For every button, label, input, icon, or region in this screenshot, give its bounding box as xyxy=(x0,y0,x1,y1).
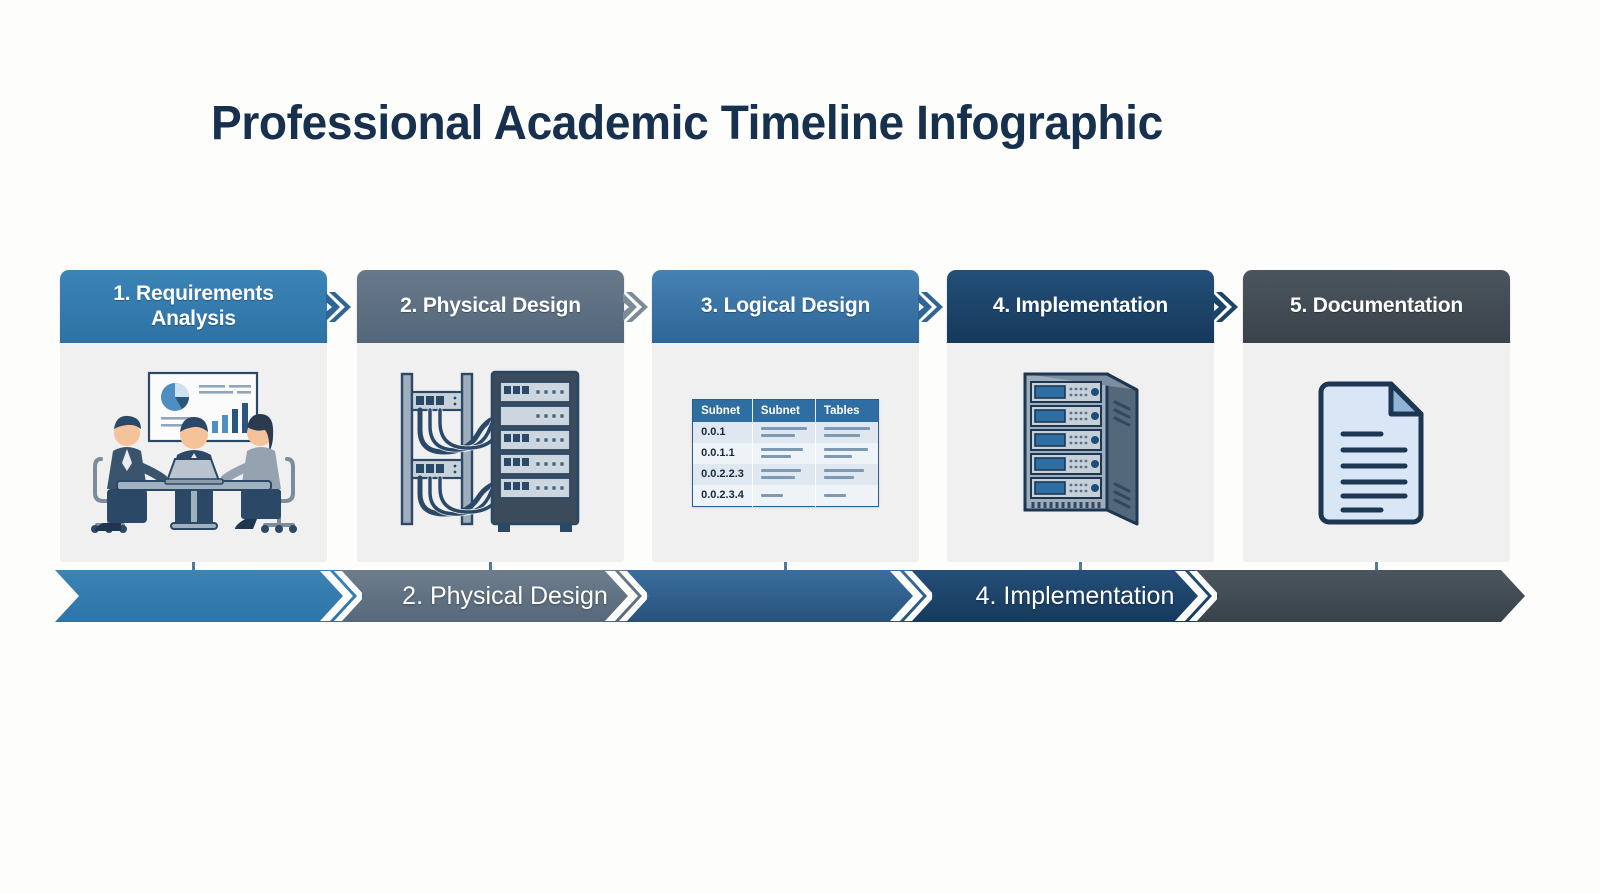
stage-card-4-label: 4. Implementation xyxy=(993,294,1168,319)
table-row: 0.0.2.2.3 xyxy=(693,464,879,485)
band-segment-4[interactable]: 4. Implementation xyxy=(910,570,1240,622)
stage-card-3-body: Subnet Subnet Tables 0.0.1 xyxy=(652,343,919,562)
placeholder-bars xyxy=(752,464,815,485)
subnet-value: 0.0.2.2.3 xyxy=(693,464,753,485)
server-rack-icon xyxy=(947,343,1214,562)
subnet-value: 0.0.1 xyxy=(693,422,753,443)
placeholder-bars xyxy=(752,485,815,507)
stage-card-1-label: 1. Requirements Analysis xyxy=(72,282,315,332)
meeting-discussion-icon xyxy=(60,343,327,562)
band-segment-3[interactable] xyxy=(625,570,955,622)
document-page-icon xyxy=(1243,343,1510,562)
table-row: 0.0.2.3.4 xyxy=(693,485,879,507)
placeholder-bars xyxy=(815,485,878,507)
band-segment-1[interactable] xyxy=(55,570,385,622)
subnet-table: Subnet Subnet Tables 0.0.1 xyxy=(692,399,879,507)
stage-card-2-label: 2. Physical Design xyxy=(400,294,581,319)
stage-card-5[interactable]: 5. Documentation xyxy=(1243,270,1510,562)
stage-card-1-header: 1. Requirements Analysis xyxy=(60,270,327,343)
timeline-band: 2. Physical Design 4. Implementation xyxy=(0,570,1600,626)
stage-card-5-header: 5. Documentation xyxy=(1243,270,1510,343)
infographic-canvas: Professional Academic Timeline Infograph… xyxy=(0,0,1600,893)
table-row: 0.0.1.1 xyxy=(693,443,879,464)
stage-cards-row: 1. Requirements Analysis xyxy=(0,270,1600,570)
stage-card-4-header: 4. Implementation xyxy=(947,270,1214,343)
chevron-right-icon-1 xyxy=(325,290,351,324)
subnet-value: 0.0.2.3.4 xyxy=(693,485,753,507)
placeholder-bars xyxy=(752,443,815,464)
stage-card-1[interactable]: 1. Requirements Analysis xyxy=(60,270,327,562)
stage-card-1-body xyxy=(60,343,327,562)
placeholder-bars xyxy=(815,422,878,443)
chevron-right-icon-3 xyxy=(917,290,943,324)
stage-card-3[interactable]: 3. Logical Design Subnet Subnet Tables xyxy=(652,270,919,562)
chevron-right-icon-4 xyxy=(1212,290,1238,324)
subnet-table-col-2: Tables xyxy=(815,399,878,422)
table-row: 0.0.1 xyxy=(693,422,879,443)
chevron-right-icon-2 xyxy=(622,290,648,324)
placeholder-bars xyxy=(752,422,815,443)
stage-card-4-body xyxy=(947,343,1214,562)
stage-card-3-label: 3. Logical Design xyxy=(701,294,870,319)
subnet-table-col-1: Subnet xyxy=(752,399,815,422)
stage-card-3-header: 3. Logical Design xyxy=(652,270,919,343)
band-segment-4-label: 4. Implementation xyxy=(976,582,1175,611)
stage-card-2[interactable]: 2. Physical Design xyxy=(357,270,624,562)
database-subnet-table-icon: Subnet Subnet Tables 0.0.1 xyxy=(652,343,919,562)
page-title: Professional Academic Timeline Infograph… xyxy=(211,96,1163,151)
band-segment-2[interactable]: 2. Physical Design xyxy=(340,570,670,622)
placeholder-bars xyxy=(815,464,878,485)
stage-card-2-body xyxy=(357,343,624,562)
stage-card-5-label: 5. Documentation xyxy=(1290,294,1463,319)
subnet-table-col-0: Subnet xyxy=(693,399,753,422)
band-segment-5[interactable] xyxy=(1195,570,1525,622)
subnet-table-header-row: Subnet Subnet Tables xyxy=(693,399,879,422)
stage-card-5-body xyxy=(1243,343,1510,562)
placeholder-bars xyxy=(815,443,878,464)
subnet-value: 0.0.1.1 xyxy=(693,443,753,464)
network-patch-panel-icon xyxy=(357,343,624,562)
band-segment-2-label: 2. Physical Design xyxy=(402,582,608,611)
stage-card-4[interactable]: 4. Implementation xyxy=(947,270,1214,562)
stage-card-2-header: 2. Physical Design xyxy=(357,270,624,343)
